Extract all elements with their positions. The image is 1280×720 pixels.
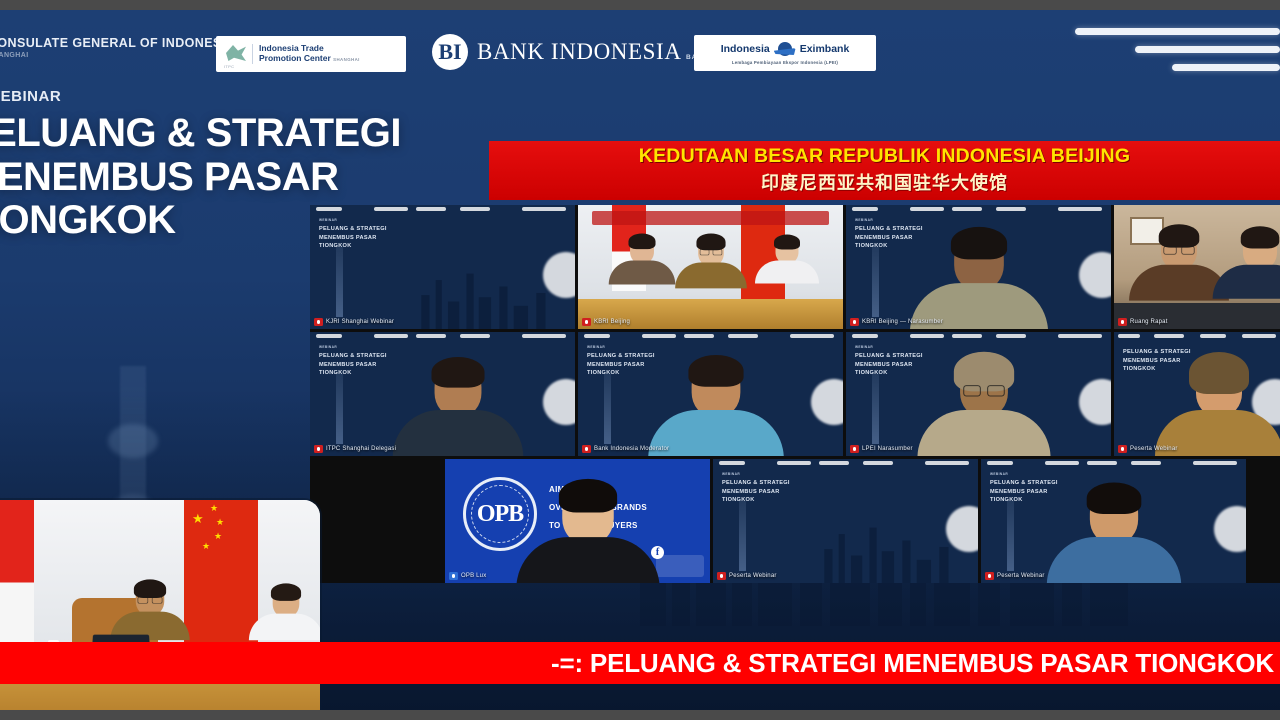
mini-slide-title: PELUANG & STRATEGI MENEMBUS PASAR TIONGK… [319, 225, 387, 251]
participant-name: Peserta Webinar [997, 573, 1045, 579]
itpc-line1: Indonesia Trade [259, 43, 324, 53]
name-plate: ITPC Shanghai Delegasi [314, 445, 396, 453]
eximbank-wordmark: Indonesia Eximbank [721, 41, 850, 57]
mini-title-1: PELUANG & STRATEGI [587, 353, 655, 359]
mic-muted-icon [314, 318, 323, 326]
mini-glow [543, 379, 575, 425]
tile-participant-2[interactable]: WEBINAR PELUANG & STRATEGI MENEMBUS PASA… [310, 332, 575, 456]
name-plate: Bank Indonesia Moderator [582, 445, 669, 453]
china-flag-star-5: ★ [202, 542, 210, 551]
mini-slide-title: PELUANG & STRATEGI MENEMBUS PASAR TIONGK… [855, 352, 923, 378]
mini-title-1: PELUANG & STRATEGI [319, 226, 387, 232]
consulate-line2: SHANGHAI [0, 52, 235, 59]
mic-muted-icon [582, 445, 591, 453]
eximbank-line2: Eximbank [800, 43, 850, 55]
mini-slide-title: PELUANG & STRATEGI MENEMBUS PASAR TIONGK… [587, 352, 655, 378]
participant-figure [1046, 487, 1180, 583]
mini-title-1: PELUANG & STRATEGI [1123, 349, 1191, 355]
mic-muted-icon [850, 318, 859, 326]
tile-participant-1[interactable]: WEBINAR PELUANG & STRATEGI MENEMBUS PASA… [846, 205, 1111, 329]
mini-logo-strip [310, 334, 575, 345]
mic-muted-icon [717, 572, 726, 580]
mini-tower [872, 374, 879, 444]
mini-slide-title: PELUANG & STRATEGI MENEMBUS PASAR TIONGK… [722, 479, 790, 505]
mini-tower [336, 374, 343, 444]
mini-tower [336, 247, 343, 317]
mini-glow [1079, 252, 1111, 298]
mini-logo-strip [981, 461, 1246, 472]
mini-logo-strip [1114, 334, 1280, 345]
mic-muted-icon [314, 445, 323, 453]
tile-participant-6[interactable]: WEBINAR PELUANG & STRATEGI MENEMBUS PASA… [981, 459, 1246, 583]
bank-indonesia-name: BANK INDONESIA [477, 39, 682, 64]
embassy-banner: KEDUTAAN BESAR REPUBLIK INDONESIA BEIJIN… [489, 141, 1280, 200]
panel-red-caption [592, 211, 829, 225]
opb-logo-text: OPB [477, 501, 523, 528]
tile-camera-off[interactable]: WEBINAR PELUANG & STRATEGI MENEMBUS PASA… [713, 459, 978, 583]
mini-glow [1079, 379, 1111, 425]
itpc-code: ITPC [224, 64, 234, 69]
name-plate: Peserta Webinar [985, 572, 1045, 580]
participant-name: Bank Indonesia Moderator [594, 446, 669, 452]
mic-muted-icon [1118, 445, 1127, 453]
virtual-background: WEBINAR PELUANG & STRATEGI MENEMBUS PASA… [310, 205, 575, 329]
mini-slide-eyebrow: WEBINAR [855, 345, 873, 349]
decorative-bar-3 [1172, 64, 1280, 71]
name-plate: LPEI Narasumber [850, 445, 913, 453]
slide-eyebrow: WEBINAR [0, 88, 61, 105]
participant-figure [648, 359, 784, 456]
eximbank-sub: Lembaga Pembiayaan Ekspor Indonesia (LPE… [732, 60, 838, 65]
tile-screenshare-slide[interactable]: WEBINAR PELUANG & STRATEGI MENEMBUS PASA… [310, 205, 575, 329]
tile-participant-4[interactable]: WEBINAR PELUANG & STRATEGI MENEMBUS PASA… [846, 332, 1111, 456]
broadcast-stage: CONSULATE GENERAL OF INDONESIA SHANGHAI … [0, 0, 1280, 720]
news-ticker: -=: PELUANG & STRATEGI MENEMBUS PASAR TI… [0, 642, 1280, 684]
participant-figure [393, 361, 524, 456]
mic-muted-icon [1118, 318, 1127, 326]
panel-person-left [608, 236, 675, 285]
participant-name: KBRI Beijing [594, 319, 630, 325]
name-plate: KBRI Beijing [582, 318, 630, 326]
mini-tower [604, 374, 611, 444]
embassy-banner-chinese: 印度尼西亚共和国驻华大使馆 [489, 169, 1280, 195]
ticker-text: -=: PELUANG & STRATEGI MENEMBUS PASAR TI… [0, 648, 1274, 679]
gallery-row-3: OPB AIMS TO ... OVER ... NENT BRANDS TO … [310, 459, 1280, 583]
mini-title-3: TIONGKOK [1123, 366, 1156, 372]
mini-title-2: MENEMBUS PASAR [587, 362, 645, 368]
mic-muted-icon [985, 572, 994, 580]
mini-glow [811, 379, 843, 425]
tile-panel-flags[interactable]: KBRI Beijing [578, 205, 843, 329]
participant-name: OPB Lux [461, 573, 486, 579]
name-plate: KJRI Shanghai Webinar [314, 318, 394, 326]
bank-indonesia-mark-icon: BI [432, 34, 468, 70]
mini-title-2: MENEMBUS PASAR [990, 489, 1048, 495]
mini-slide-eyebrow: WEBINAR [990, 472, 1008, 476]
mini-logo-strip [310, 207, 575, 218]
china-flag-star-3: ★ [216, 518, 224, 527]
tile-participant-5[interactable]: PELUANG & STRATEGI MENEMBUS PASAR TIONGK… [1114, 332, 1280, 456]
indonesia-flag-icon [0, 500, 34, 650]
mini-slide-eyebrow: WEBINAR [587, 345, 605, 349]
participant-name: Peserta Webinar [1130, 446, 1178, 452]
participant-figure [1155, 362, 1280, 456]
mic-muted-icon [582, 318, 591, 326]
mini-slide-title: PELUANG & STRATEGI MENEMBUS PASAR TIONGK… [319, 352, 387, 378]
mini-logo-strip [846, 334, 1111, 345]
participant-name: ITPC Shanghai Delegasi [326, 446, 396, 452]
video-gallery: WEBINAR PELUANG & STRATEGI MENEMBUS PASA… [310, 205, 1280, 583]
mini-slide-eyebrow: WEBINAR [319, 218, 337, 222]
mini-glow [1214, 506, 1246, 552]
gallery-row-1: WEBINAR PELUANG & STRATEGI MENEMBUS PASA… [310, 205, 1280, 329]
participant-figure [917, 360, 1050, 456]
decorative-bar-1 [1075, 28, 1280, 35]
slide-title-line-1: PELUANG & STRATEGI [0, 112, 401, 156]
mini-title-2: MENEMBUS PASAR [319, 362, 377, 368]
slide-logo-strip: CONSULATE GENERAL OF INDONESIA SHANGHAI … [0, 10, 1280, 88]
participant-name: KJRI Shanghai Webinar [326, 319, 394, 325]
mini-title-1: PELUANG & STRATEGI [319, 353, 387, 359]
tile-office-two[interactable]: Ruang Rapat [1114, 205, 1280, 329]
participant-name: Peserta Webinar [729, 573, 777, 579]
slide-title-line-2: MENEMBUS PASAR [0, 156, 401, 200]
name-plate: OPB Lux [449, 572, 486, 580]
letterbox-bottom [0, 710, 1280, 720]
virtual-background: WEBINAR PELUANG & STRATEGI MENEMBUS PASA… [713, 459, 978, 583]
name-plate: Peserta Webinar [717, 572, 777, 580]
tile-participant-3[interactable]: WEBINAR PELUANG & STRATEGI MENEMBUS PASA… [578, 332, 843, 456]
logo-indonesia-eximbank: Indonesia Eximbank Lembaga Pembiayaan Ek… [694, 35, 876, 71]
opb-watermark [656, 555, 704, 577]
mini-title-1: PELUANG & STRATEGI [722, 480, 790, 486]
mini-tower [1007, 501, 1014, 571]
mini-slide-eyebrow: WEBINAR [722, 472, 740, 476]
logo-indonesia-trade-promotion-center: Indonesia Trade Promotion Center SHANGHA… [216, 36, 406, 72]
mic-muted-icon [850, 445, 859, 453]
mini-slide-eyebrow: WEBINAR [855, 218, 873, 222]
decorative-bar-2 [1135, 46, 1280, 53]
mini-tower [739, 501, 746, 571]
mic-active-icon [449, 572, 458, 580]
participant-name: KBRI Beijing — Narasumber [862, 319, 943, 325]
panel-person-right [755, 237, 819, 284]
mini-title-2: MENEMBUS PASAR [855, 235, 913, 241]
china-flag-star-4: ★ [214, 532, 222, 541]
embassy-banner-english: KEDUTAAN BESAR REPUBLIK INDONESIA BEIJIN… [489, 145, 1280, 168]
globe-icon [774, 41, 796, 57]
china-flag-star-2: ★ [210, 504, 218, 513]
tile-opb-presentation[interactable]: OPB AIMS TO ... OVER ... NENT BRANDS TO … [445, 459, 710, 583]
mini-logo-strip [846, 207, 1111, 218]
mini-title-2: MENEMBUS PASAR [855, 362, 913, 368]
mini-title-2: MENEMBUS PASAR [722, 489, 780, 495]
office-person-right [1213, 229, 1280, 299]
itpc-wordmark: Indonesia Trade Promotion Center SHANGHA… [252, 44, 360, 63]
name-plate: KBRI Beijing — Narasumber [850, 318, 943, 326]
gallery-row-2: WEBINAR PELUANG & STRATEGI MENEMBUS PASA… [310, 332, 1280, 456]
participant-figure [909, 231, 1047, 329]
decorative-bars [1070, 28, 1280, 71]
letterbox-top [0, 0, 1280, 10]
mini-tower [872, 247, 879, 317]
mini-logo-strip [578, 334, 843, 345]
mini-title-2: MENEMBUS PASAR [319, 235, 377, 241]
participant-name: Ruang Rapat [1130, 319, 1168, 325]
consulate-line1: CONSULATE GENERAL OF INDONESIA [0, 36, 235, 50]
itpc-line2: Promotion Center [259, 53, 331, 63]
participant-name: LPEI Narasumber [862, 446, 913, 452]
logo-consulate-general-of-indonesia: CONSULATE GENERAL OF INDONESIA SHANGHAI [0, 36, 235, 59]
eximbank-line1: Indonesia [721, 43, 770, 55]
itpc-sub: SHANGHAI [333, 57, 360, 62]
mini-slide-eyebrow: WEBINAR [319, 345, 337, 349]
mini-title-1: PELUANG & STRATEGI [990, 480, 1058, 486]
panel-person-center [675, 236, 747, 289]
name-plate: Ruang Rapat [1118, 318, 1168, 326]
participant-figure [516, 483, 659, 583]
china-flag-star-1: ★ [192, 512, 204, 525]
mini-logo-strip [713, 461, 978, 472]
name-plate: Peserta Webinar [1118, 445, 1178, 453]
mini-title-1: PELUANG & STRATEGI [855, 353, 923, 359]
